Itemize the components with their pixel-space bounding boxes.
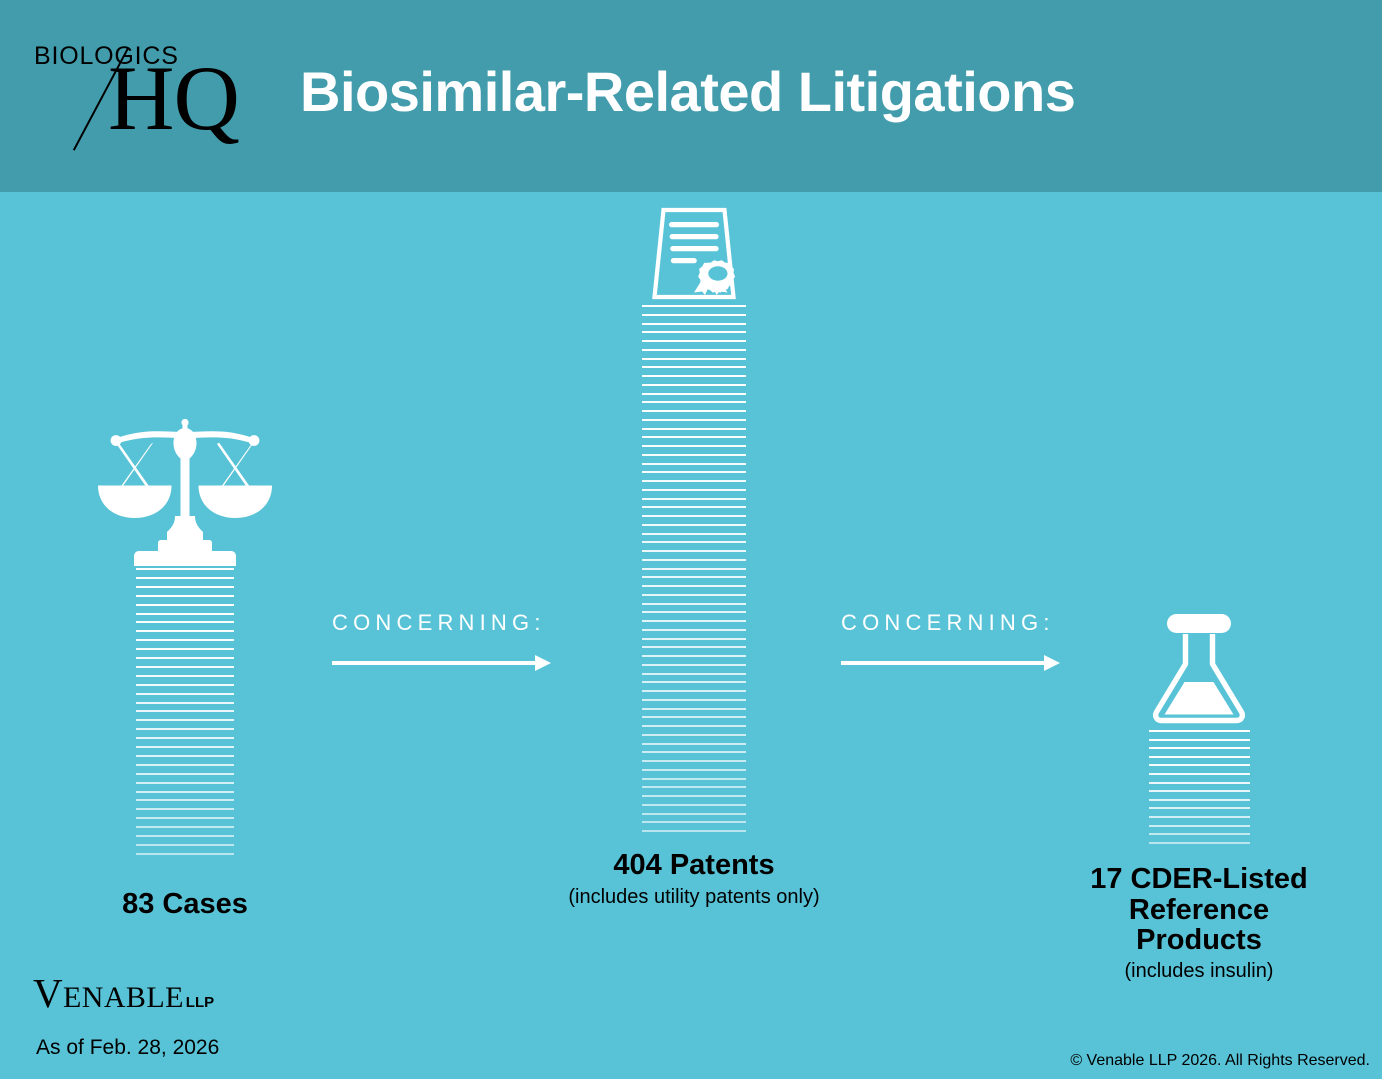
stack-page-line — [642, 375, 746, 377]
stack-page-line — [642, 331, 746, 333]
stack-page-line — [136, 808, 234, 810]
stack-page-line — [1149, 773, 1250, 775]
stack-page-line — [136, 613, 234, 615]
stack-page-line — [642, 550, 746, 552]
stack-page-line — [1149, 739, 1250, 741]
stack-page-line — [642, 690, 746, 692]
venable-letter: N — [82, 981, 104, 1014]
stack-page-line — [642, 524, 746, 526]
stack-page-line — [642, 629, 746, 631]
stack-page-line — [642, 568, 746, 570]
sublabel-products: (includes insulin) — [1074, 960, 1324, 982]
venable-logo: VENABLELLP — [33, 969, 214, 1017]
stack-page-line — [136, 817, 234, 819]
connector-label-2: CONCERNING: — [841, 610, 1055, 636]
stack-page-line — [136, 710, 234, 712]
stack-page-line — [642, 498, 746, 500]
stack-page-line — [642, 305, 746, 307]
stack-page-line — [136, 604, 234, 606]
stack-page-line — [642, 594, 746, 596]
stack-page-line — [642, 393, 746, 395]
stack-page-line — [642, 419, 746, 421]
stack-page-line — [642, 769, 746, 771]
logo-text-hq: HQ — [108, 52, 239, 144]
stack-page-line — [642, 830, 746, 832]
stack-page-line — [136, 684, 234, 686]
stack-page-line — [642, 323, 746, 325]
stack-page-line — [642, 734, 746, 736]
venable-llp-suffix: LLP — [186, 994, 214, 1011]
stack-page-line — [1149, 825, 1250, 827]
connector-cases-to-patents: CONCERNING: — [332, 610, 546, 671]
stack-page-line — [136, 693, 234, 695]
arrow-shaft — [332, 661, 537, 665]
erlenmeyer-flask-icon — [1149, 612, 1249, 730]
stacked-pages-icon-patents — [642, 305, 746, 833]
scales-of-justice-icon — [95, 418, 275, 568]
stack-page-line — [136, 826, 234, 828]
arrow-shaft — [841, 661, 1046, 665]
label-products-line-1: 17 CDER-Listed — [1074, 864, 1324, 895]
stack-page-line — [136, 853, 234, 855]
stack-page-line — [642, 778, 746, 780]
stack-page-line — [642, 699, 746, 701]
stack-page-line — [642, 681, 746, 683]
stack-page-line — [1149, 842, 1250, 844]
stack-page-line — [642, 603, 746, 605]
label-patents: 404 Patents — [566, 850, 822, 881]
stack-page-line — [136, 773, 234, 775]
stack-page-line — [642, 541, 746, 543]
stack-page-line — [642, 786, 746, 788]
stack-page-line — [642, 673, 746, 675]
stack-page-line — [136, 630, 234, 632]
column-products: 17 CDER-ListedReferenceProducts (include… — [1074, 612, 1324, 982]
stack-page-line — [136, 728, 234, 730]
stack-page-line — [1149, 764, 1250, 766]
arrow-right-icon-2 — [841, 655, 1055, 671]
stack-page-line — [1149, 799, 1250, 801]
stack-page-line — [642, 401, 746, 403]
stack-page-line — [642, 821, 746, 823]
stack-page-line — [136, 799, 234, 801]
stack-page-line — [642, 428, 746, 430]
stack-page-line — [642, 576, 746, 578]
column-patents: 404 Patents (includes utility patents on… — [566, 205, 822, 908]
stack-page-line — [1149, 730, 1250, 732]
arrow-head — [1044, 655, 1060, 671]
stack-page-line — [642, 559, 746, 561]
stack-page-line — [1149, 756, 1250, 758]
stack-page-line — [642, 664, 746, 666]
stack-page-line — [642, 463, 746, 465]
stack-page-line — [642, 804, 746, 806]
label-products-line-2: Reference — [1074, 895, 1324, 926]
venable-letter: E — [165, 981, 184, 1014]
stack-page-line — [1149, 807, 1250, 809]
stack-page-line — [136, 577, 234, 579]
stack-page-line — [642, 743, 746, 745]
stack-page-line — [136, 844, 234, 846]
stack-page-line — [136, 755, 234, 757]
stack-page-line — [136, 675, 234, 677]
venable-letter: B — [126, 981, 146, 1014]
page-title: Biosimilar-Related Litigations — [300, 59, 1075, 124]
stack-page-line — [642, 358, 746, 360]
stack-page-line — [642, 795, 746, 797]
stack-page-line — [642, 410, 746, 412]
stack-page-line — [642, 751, 746, 753]
stack-page-line — [136, 737, 234, 739]
stack-page-line — [1149, 790, 1250, 792]
stack-page-line — [136, 648, 234, 650]
stack-page-line — [642, 638, 746, 640]
stack-page-line — [136, 835, 234, 837]
stack-page-line — [136, 782, 234, 784]
copyright-notice: © Venable LLP 2026. All Rights Reserved. — [1070, 1052, 1370, 1070]
stack-page-line — [642, 708, 746, 710]
stack-page-line — [642, 340, 746, 342]
label-products-line-3: Products — [1074, 925, 1324, 956]
stack-page-line — [642, 384, 746, 386]
venable-letter: E — [63, 981, 82, 1014]
stack-page-line — [136, 764, 234, 766]
stack-page-line — [136, 586, 234, 588]
stack-page-line — [1149, 833, 1250, 835]
stack-page-line — [642, 471, 746, 473]
stack-page-line — [642, 760, 746, 762]
stack-page-line — [136, 719, 234, 721]
venable-letter: V — [33, 970, 63, 1016]
stack-page-line — [642, 314, 746, 316]
stack-page-line — [642, 366, 746, 368]
stack-page-line — [642, 646, 746, 648]
stack-page-line — [642, 480, 746, 482]
stack-page-line — [642, 655, 746, 657]
sublabel-patents: (includes utility patents only) — [566, 886, 822, 908]
stacked-pages-icon-products — [1149, 730, 1250, 848]
arrow-right-icon-1 — [332, 655, 546, 671]
label-products: 17 CDER-ListedReferenceProducts — [1074, 864, 1324, 956]
stack-page-line — [642, 620, 746, 622]
as-of-date: As of Feb. 28, 2026 — [36, 1036, 219, 1060]
stack-page-line — [642, 533, 746, 535]
stack-page-line — [642, 515, 746, 517]
stack-page-line — [642, 454, 746, 456]
stack-page-line — [1149, 816, 1250, 818]
label-cases: 83 Cases — [60, 889, 310, 920]
stack-page-line — [642, 716, 746, 718]
stack-page-line — [1149, 782, 1250, 784]
stack-page-line — [642, 725, 746, 727]
venable-wordmark: VENABLE — [33, 970, 184, 1016]
connector-label-1: CONCERNING: — [332, 610, 546, 636]
patent-certificate-icon — [639, 205, 749, 305]
stack-page-line — [136, 621, 234, 623]
venable-letter: A — [104, 981, 126, 1014]
stack-page-line — [642, 611, 746, 613]
stack-page-line — [642, 489, 746, 491]
stack-page-line — [1149, 747, 1250, 749]
stack-page-line — [136, 702, 234, 704]
stack-page-line — [642, 349, 746, 351]
stack-page-line — [136, 639, 234, 641]
stack-page-line — [136, 568, 234, 570]
stack-page-line — [136, 746, 234, 748]
biologics-hq-logo: BIOLOGICS HQ — [22, 34, 272, 159]
stack-page-line — [136, 657, 234, 659]
stack-page-line — [136, 666, 234, 668]
venable-letter: L — [146, 981, 165, 1014]
stack-page-line — [642, 436, 746, 438]
connector-patents-to-products: CONCERNING: — [841, 610, 1055, 671]
stack-page-line — [642, 585, 746, 587]
stack-page-line — [642, 445, 746, 447]
stack-page-line — [642, 813, 746, 815]
stack-page-line — [642, 506, 746, 508]
column-cases: 83 Cases — [60, 418, 310, 920]
stacked-pages-icon-cases — [136, 568, 234, 868]
arrow-head — [535, 655, 551, 671]
stack-page-line — [136, 791, 234, 793]
stack-page-line — [136, 595, 234, 597]
